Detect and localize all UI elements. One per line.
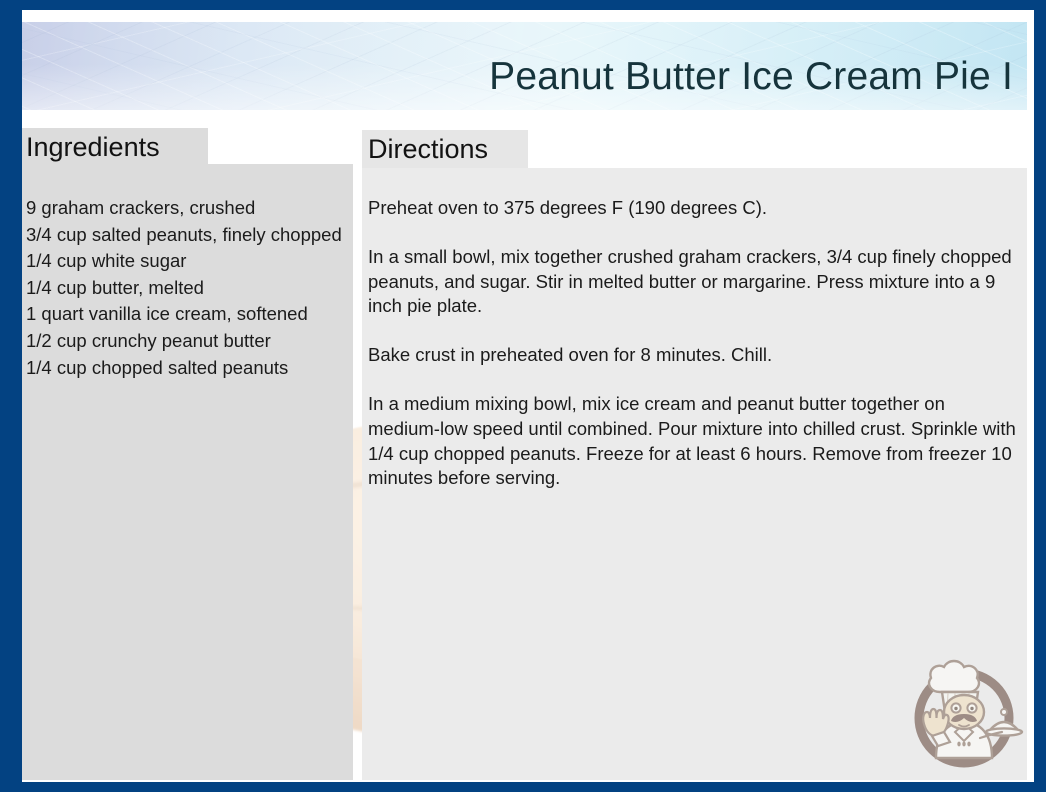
ingredient-item: 1/4 cup white sugar bbox=[26, 248, 354, 275]
chef-mascot-logo bbox=[902, 648, 1026, 772]
direction-step: In a small bowl, mix together crushed gr… bbox=[368, 245, 1020, 319]
ingredient-item: 3/4 cup salted peanuts, finely chopped bbox=[26, 222, 354, 249]
ingredients-list: 9 graham crackers, crushed3/4 cup salted… bbox=[26, 195, 354, 381]
directions-heading: Directions bbox=[368, 136, 488, 163]
direction-step: Preheat oven to 375 degrees F (190 degre… bbox=[368, 196, 1020, 221]
title-banner: Peanut Butter Ice Cream Pie I bbox=[22, 22, 1027, 110]
ingredients-heading: Ingredients bbox=[26, 134, 160, 161]
direction-step: Bake crust in preheated oven for 8 minut… bbox=[368, 343, 1020, 368]
direction-step: In a medium mixing bowl, mix ice cream a… bbox=[368, 392, 1020, 491]
page-title: Peanut Butter Ice Cream Pie I bbox=[489, 57, 1013, 96]
chef-face-icon bbox=[944, 695, 984, 729]
ingredient-item: 1 quart vanilla ice cream, softened bbox=[26, 301, 354, 328]
ingredient-item: 1/4 cup chopped salted peanuts bbox=[26, 355, 354, 382]
directions-steps: Preheat oven to 375 degrees F (190 degre… bbox=[368, 196, 1020, 515]
ingredient-item: 1/4 cup butter, melted bbox=[26, 275, 354, 302]
ingredient-item: 1/2 cup crunchy peanut butter bbox=[26, 328, 354, 355]
card-frame: Peanut Butter Ice Cream Pie I bbox=[0, 0, 1046, 792]
serving-tray-icon bbox=[980, 709, 1022, 738]
ingredient-item: 9 graham crackers, crushed bbox=[26, 195, 354, 222]
